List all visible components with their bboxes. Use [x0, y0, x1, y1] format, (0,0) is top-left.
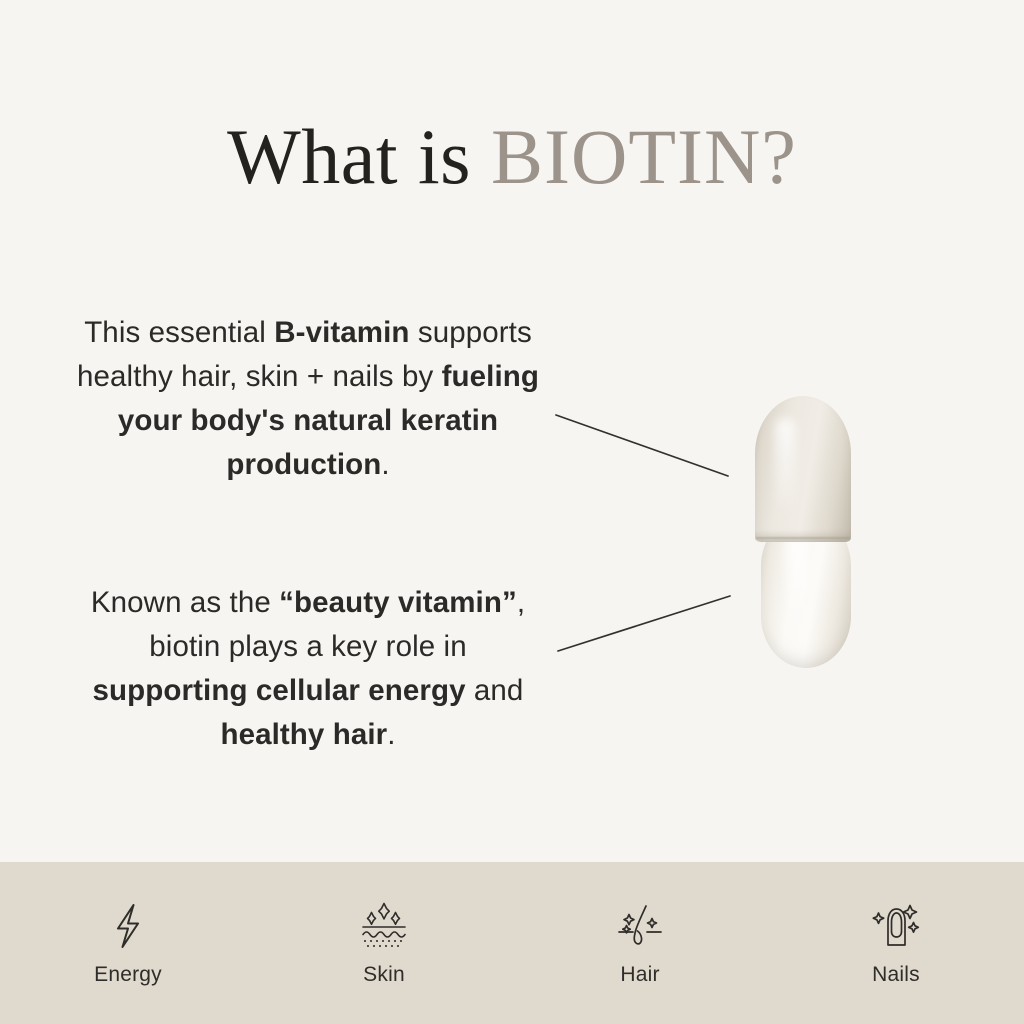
connector-line-bottom	[558, 596, 730, 651]
benefit-label-energy: Energy	[94, 963, 162, 987]
emphasis-text: “beauty vitamin”	[279, 586, 517, 619]
capsule-seam-line	[756, 537, 850, 539]
capsule-cap-ring	[755, 530, 851, 542]
benefit-item-hair[interactable]: Hair	[512, 862, 768, 1024]
benefits-footer-band: Energy	[0, 862, 1024, 1024]
page-title: What is BIOTIN?	[0, 118, 1024, 196]
lightning-bolt-icon	[100, 900, 156, 952]
capsule-cap-highlight	[775, 418, 795, 514]
body-text: .	[387, 718, 395, 751]
emphasis-text: supporting cellular energy	[93, 674, 466, 707]
capsule-image	[752, 396, 860, 672]
emphasis-text: healthy hair	[220, 718, 387, 751]
biotin-infographic: What is BIOTIN? This essential B-vitamin…	[0, 0, 1024, 1024]
benefit-label-hair: Hair	[620, 963, 659, 987]
body-text: Known as the	[91, 586, 279, 619]
benefit-item-energy[interactable]: Energy	[0, 862, 256, 1024]
benefits-list: Energy	[0, 862, 1024, 1024]
fingernail-icon	[868, 900, 924, 952]
body-text: .	[381, 448, 389, 481]
emphasis-text: B-vitamin	[274, 316, 409, 349]
body-text: and	[466, 674, 524, 707]
page-title-lead: What is	[227, 113, 491, 200]
benefit-label-skin: Skin	[363, 963, 405, 987]
body-text: This essential	[84, 316, 274, 349]
benefit-label-nails: Nails	[872, 963, 920, 987]
page-title-text: What is BIOTIN?	[227, 113, 797, 200]
capsule-cap-half	[755, 396, 851, 542]
benefit-item-skin[interactable]: Skin	[256, 862, 512, 1024]
hair-follicle-icon	[612, 900, 668, 952]
description-paragraph-1: This essential B-vitamin supports health…	[72, 311, 544, 487]
capsule-body-highlight	[785, 530, 807, 622]
benefit-item-nails[interactable]: Nails	[768, 862, 1024, 1024]
connector-line-top	[556, 415, 728, 476]
description-paragraph-2: Known as the “beauty vitamin”, biotin pl…	[72, 581, 544, 757]
page-title-accent: BIOTIN?	[491, 113, 797, 200]
skin-layers-icon	[356, 900, 412, 952]
